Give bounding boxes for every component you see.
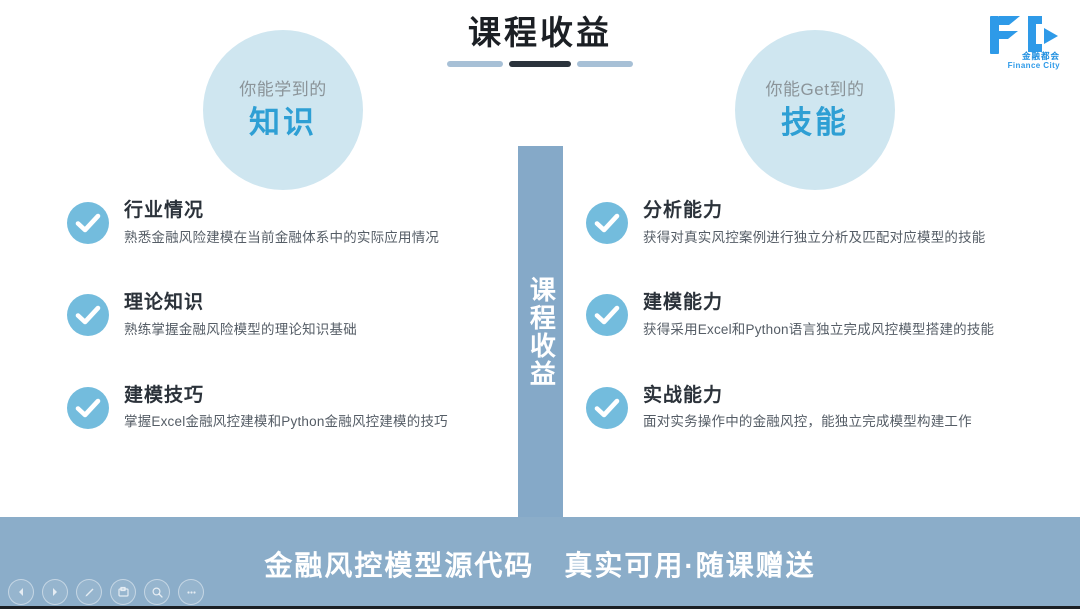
list-item-title: 建模技巧 <box>124 384 448 408</box>
list-item-text: 建模能力 获得采用Excel和Python语言独立完成风控模型搭建的技能 <box>643 290 994 338</box>
title-block: 课程收益 <box>0 14 1080 68</box>
list-item-desc: 熟悉金融风险建模在当前金融体系中的实际应用情况 <box>124 229 439 247</box>
list-item-desc: 面对实务操作中的金融风控，能独立完成模型构建工作 <box>643 413 972 431</box>
more-icon[interactable] <box>178 579 204 605</box>
list-item: 实战能力 面对实务操作中的金融风控，能独立完成模型构建工作 <box>585 383 1055 431</box>
list-item: 建模能力 获得采用Excel和Python语言独立完成风控模型搭建的技能 <box>585 290 1055 338</box>
underline-segment-right <box>577 61 633 67</box>
check-circle-icon <box>66 386 110 430</box>
center-divider-bar: 课程收益 <box>518 146 563 518</box>
check-circle-icon <box>66 201 110 245</box>
underline-segment-center <box>509 61 571 67</box>
title-underline <box>447 61 633 68</box>
magnifier-icon[interactable] <box>144 579 170 605</box>
check-circle-icon <box>66 293 110 337</box>
list-item: 分析能力 获得对真实风控案例进行独立分析及匹配对应模型的技能 <box>585 198 1055 246</box>
list-item: 建模技巧 掌握Excel金融风控建模和Python金融风控建模的技巧 <box>66 383 496 431</box>
list-item-title: 行业情况 <box>124 199 439 223</box>
bottom-banner: 金融风控模型源代码 真实可用·随课赠送 <box>0 517 1080 609</box>
next-icon[interactable] <box>42 579 68 605</box>
list-item-text: 理论知识 熟练掌握金融风险模型的理论知识基础 <box>124 290 357 338</box>
circle-knowledge-subtitle: 你能学到的 <box>239 80 327 100</box>
list-item-text: 实战能力 面对实务操作中的金融风控，能独立完成模型构建工作 <box>643 383 972 431</box>
slide-canvas: 课程收益 金融都会 Finance City 你能学到的 知识 你能Get到的 … <box>0 0 1080 609</box>
check-circle-icon <box>585 386 629 430</box>
list-item: 行业情况 熟悉金融风险建模在当前金融体系中的实际应用情况 <box>66 198 496 246</box>
circle-knowledge-title: 知识 <box>249 106 317 140</box>
check-circle-icon <box>585 201 629 245</box>
list-item-desc: 掌握Excel金融风控建模和Python金融风控建模的技巧 <box>124 413 448 431</box>
circle-skills: 你能Get到的 技能 <box>735 30 895 190</box>
brand-logo: 金融都会 Finance City <box>970 12 1066 82</box>
list-item: 理论知识 熟练掌握金融风险模型的理论知识基础 <box>66 290 496 338</box>
list-item-desc: 获得对真实风控案例进行独立分析及匹配对应模型的技能 <box>643 229 986 247</box>
list-item-text: 行业情况 熟悉金融风险建模在当前金融体系中的实际应用情况 <box>124 198 439 246</box>
bottom-banner-text: 金融风控模型源代码 真实可用·随课赠送 <box>0 544 1080 584</box>
logo-en-name: Finance City <box>970 61 1060 70</box>
list-item-title: 理论知识 <box>124 291 357 315</box>
page-title: 课程收益 <box>0 14 1080 52</box>
check-circle-icon <box>585 293 629 337</box>
list-item-desc: 熟练掌握金融风险模型的理论知识基础 <box>124 321 357 339</box>
list-item-title: 分析能力 <box>643 199 986 223</box>
center-bar-label: 课程收益 <box>525 276 557 388</box>
previous-icon[interactable] <box>8 579 34 605</box>
list-item-title: 实战能力 <box>643 384 972 408</box>
list-item-text: 建模技巧 掌握Excel金融风控建模和Python金融风控建模的技巧 <box>124 383 448 431</box>
benefits-column-left: 行业情况 熟悉金融风险建模在当前金融体系中的实际应用情况 理论知识 熟练掌握金融… <box>66 198 496 475</box>
list-item-text: 分析能力 获得对真实风控案例进行独立分析及匹配对应模型的技能 <box>643 198 986 246</box>
benefits-column-right: 分析能力 获得对真实风控案例进行独立分析及匹配对应模型的技能 建模能力 获得采用… <box>585 198 1055 475</box>
circle-knowledge: 你能学到的 知识 <box>203 30 363 190</box>
circle-skills-subtitle: 你能Get到的 <box>766 80 865 100</box>
player-toolbar[interactable] <box>8 579 204 605</box>
list-item-title: 建模能力 <box>643 291 994 315</box>
circle-skills-title: 技能 <box>781 106 849 140</box>
list-item-desc: 获得采用Excel和Python语言独立完成风控模型搭建的技能 <box>643 321 994 339</box>
pen-icon[interactable] <box>76 579 102 605</box>
screen-icon[interactable] <box>110 579 136 605</box>
underline-segment-left <box>447 61 503 67</box>
